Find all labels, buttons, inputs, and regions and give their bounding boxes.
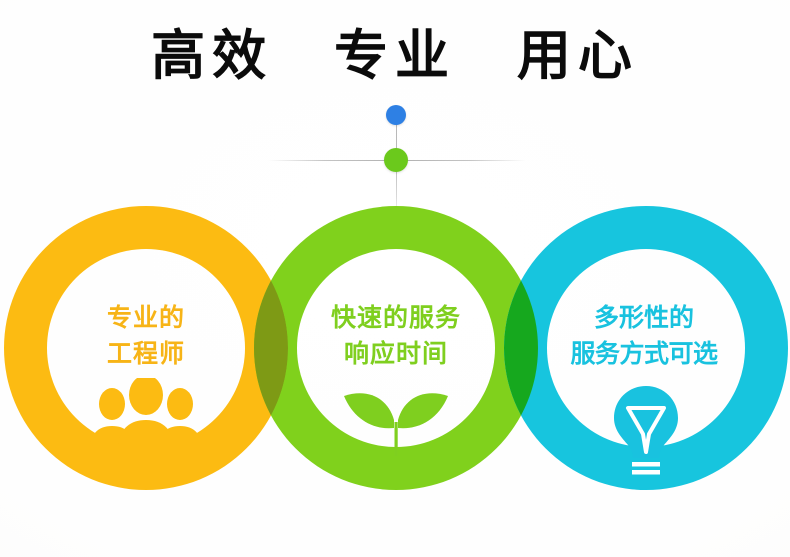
circle-label-flexible-service: 多形性的 服务方式可选 <box>529 300 759 371</box>
circle-label-line-2: 工程师 <box>31 336 261 372</box>
sprout-leaf-icon <box>330 372 462 456</box>
lightbulb-icon <box>598 382 694 478</box>
circle-label-line-1: 快速的服务 <box>281 300 511 336</box>
circle-label-professional-engineers: 专业的 工程师 <box>31 300 261 371</box>
circle-label-line-2: 服务方式可选 <box>529 336 759 372</box>
circle-label-line-1: 专业的 <box>31 300 261 336</box>
infographic-canvas: 高效 专业 用心 <box>0 0 790 557</box>
people-group-icon <box>88 378 204 450</box>
circle-label-line-2: 响应时间 <box>281 336 511 372</box>
circle-label-line-1: 多形性的 <box>529 300 759 336</box>
circle-label-fast-response: 快速的服务 响应时间 <box>281 300 511 371</box>
